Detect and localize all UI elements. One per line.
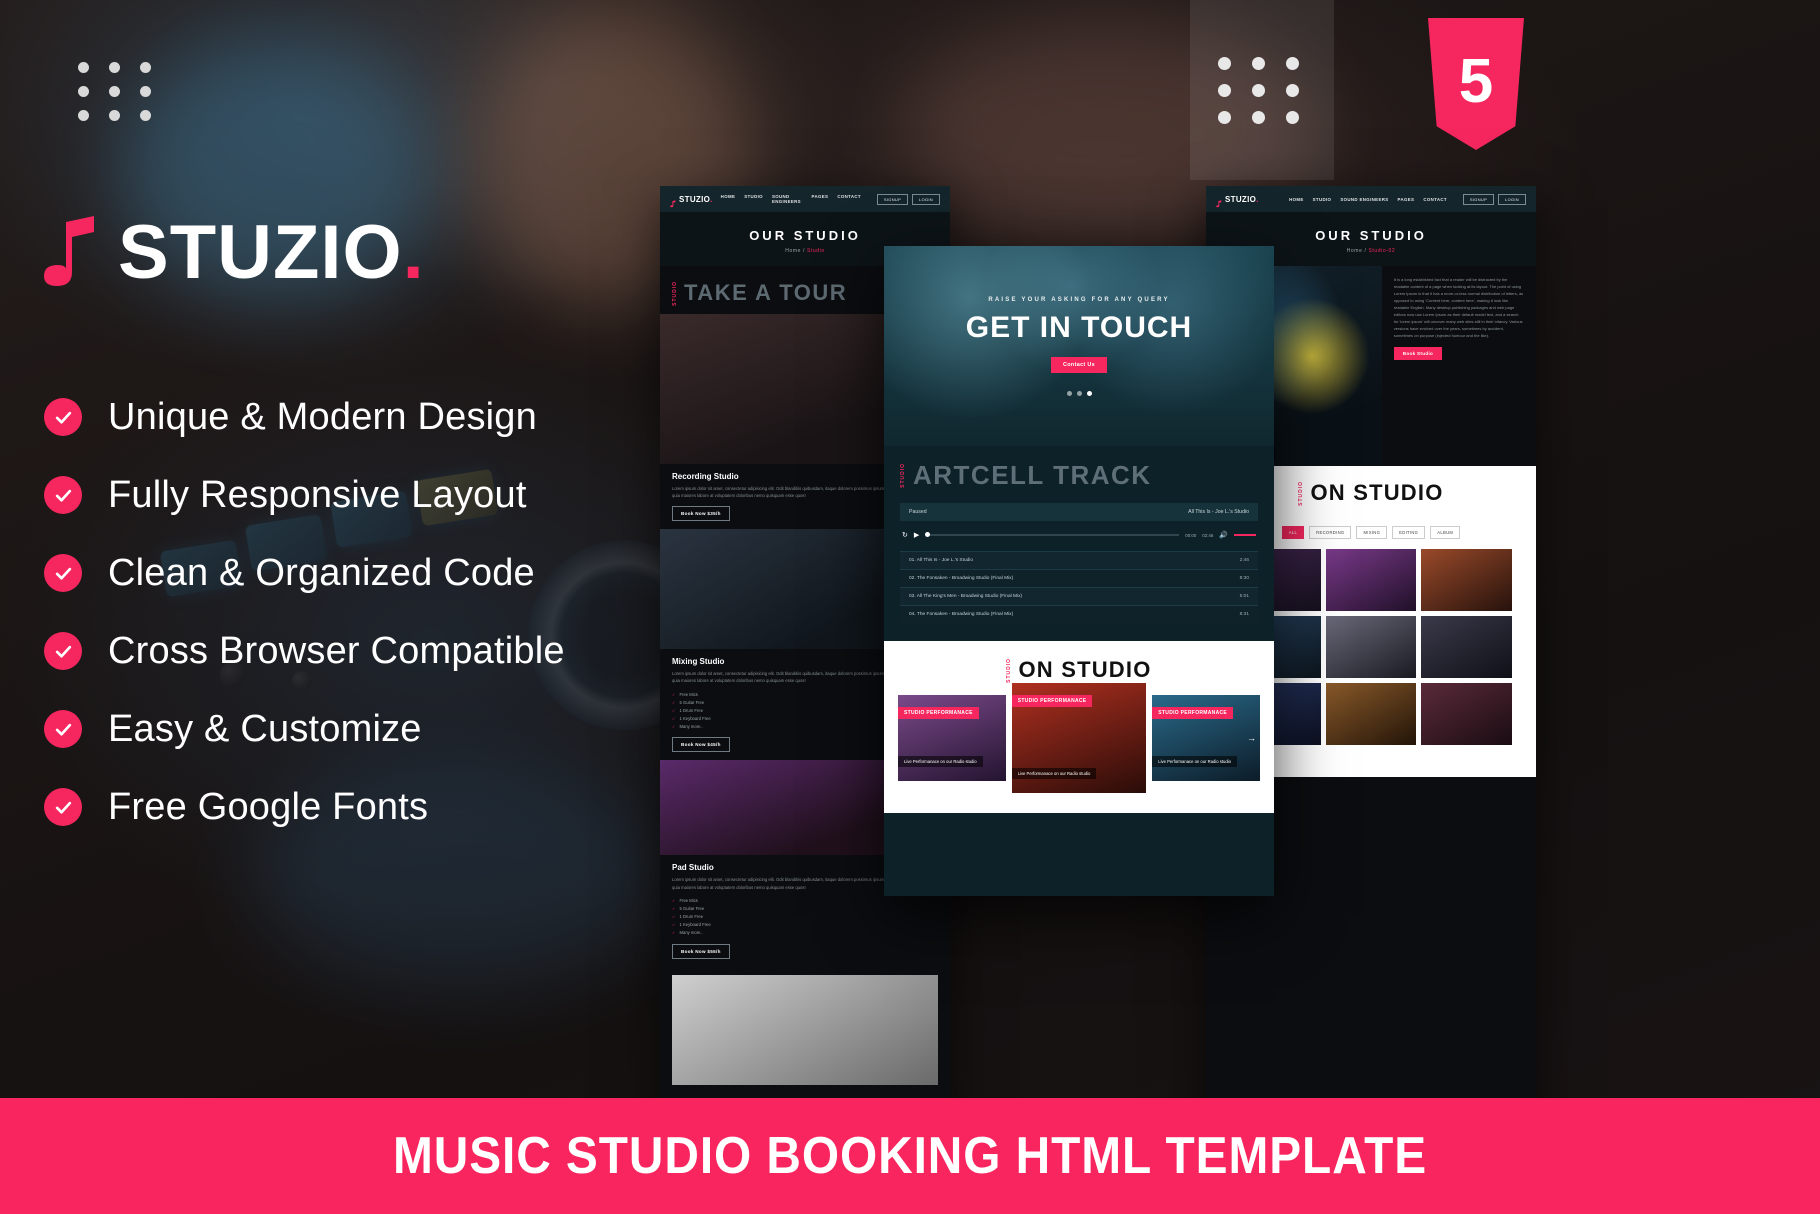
site-nav-links: HOME STUDIO SOUND ENGINEERS PAGES CONTAC… [721,194,861,204]
breadcrumb-current: Studio [807,248,825,254]
nav-link-sound-engineers[interactable]: SOUND ENGINEERS [772,194,803,204]
player-kicker: STUDIO [900,463,906,488]
check-circle-icon [44,788,82,826]
signup-button[interactable]: SIGNUP [1463,194,1494,205]
on-studio-kicker: STUDIO [1006,658,1012,683]
site-nav-buttons: SIGNUP LOGIN [1463,194,1526,205]
feature-label: Easy & Customize [108,708,422,751]
check-circle-icon [44,476,82,514]
studio-photo [672,975,938,1085]
gallery-image[interactable] [1326,616,1417,678]
site-logo[interactable]: STUZIO. [670,195,713,204]
page-title: OUR STUDIO [1206,228,1536,243]
performance-card[interactable]: STUDIO PERFORMANACE Live Performanace on… [898,695,1006,781]
nav-link-pages[interactable]: PAGES [812,194,829,204]
nav-link-home[interactable]: HOME [721,194,736,204]
play-icon[interactable]: ▶ [914,531,919,539]
card-caption: Live Performanace on our Radio studio [1012,768,1097,779]
nav-link-studio[interactable]: STUDIO [744,194,763,204]
gallery-image[interactable] [1421,683,1512,745]
volume-icon[interactable]: 🔊 [1219,531,1228,539]
card-caption: Live Performanace on our Radio studio [1152,756,1237,767]
list-item: 1 Keyboard Free [672,921,938,929]
progress-bar[interactable] [925,534,1179,536]
player-title: ARTCELL TRACK [913,460,1152,491]
filter-recording[interactable]: RECORDING [1309,526,1351,539]
feature-item: Cross Browser Compatible [44,612,565,690]
track-row[interactable]: 01. All This Is - Joe L.'s Studio 2:46 [900,551,1258,569]
site-logo[interactable]: STUZIO. [1216,195,1259,204]
mockup-center-site: RAISE YOUR ASKING FOR ANY QUERY GET IN T… [884,246,1274,896]
music-note-icon [1216,195,1222,203]
contact-hero: RAISE YOUR ASKING FOR ANY QUERY GET IN T… [884,246,1274,446]
site-logo-dot: . [1256,195,1259,204]
gallery-image[interactable] [1421,616,1512,678]
feature-item: Free Google Fonts [44,768,565,846]
site-navbar: STUZIO. HOME STUDIO SOUND ENGINEERS PAGE… [660,186,950,212]
next-arrow-icon[interactable]: → [1247,733,1256,743]
brand-logo-text: STUZIO. [118,217,425,289]
list-item: Many more.. [672,929,938,937]
card-caption: Live Performanace on our Radio studio [898,756,983,767]
track-duration: 5:01 [1240,594,1249,599]
feature-label: Unique & Modern Design [108,396,537,439]
list-item: Free Mics [672,897,938,905]
contact-hero-title: GET IN TOUCH [966,311,1192,345]
site-nav-buttons: SIGNUP LOGIN [877,194,940,205]
breadcrumb-home[interactable]: Home [1347,248,1363,254]
studio-description-text: It is a long established fact that a rea… [1394,276,1524,339]
filter-album[interactable]: ALBUM [1430,526,1460,539]
signup-button[interactable]: SIGNUP [877,194,908,205]
page-title: OUR STUDIO [660,228,950,243]
brand-logo-word: STUZIO [118,210,403,295]
site-nav-links: HOME STUDIO SOUND ENGINEERS PAGES CONTAC… [1289,197,1447,202]
check-circle-icon [44,398,82,436]
nav-link-contact[interactable]: CONTACT [1423,197,1447,202]
gallery-image[interactable] [1326,683,1417,745]
on-studio-title: ON STUDIO [1018,657,1151,683]
bottom-banner: MUSIC STUDIO BOOKING HTML TEMPLATE [0,1098,1820,1214]
music-note-icon [42,216,104,290]
feature-item: Easy & Customize [44,690,565,768]
card-tag: STUDIO PERFORMANACE [1152,707,1233,719]
gallery-image[interactable] [1326,549,1417,611]
brand-logo-dot: . [403,210,425,295]
track-number: 01. [909,558,916,563]
check-circle-icon [44,554,82,592]
performance-card[interactable]: STUDIO PERFORMANACE Live Performanace on… [1152,695,1260,781]
track-row[interactable]: 04. The Fonsaken - Broadwing Studio (Fin… [900,605,1258,623]
html5-badge-label: 5 [1428,46,1524,117]
card-tag: STUDIO PERFORMANACE [1012,695,1093,707]
player-now-playing: All This Is - Joe L.'s Studio [1188,509,1249,515]
player-status: Paused [909,509,927,515]
track-row[interactable]: 03. All The King's Men - Broadwing Studi… [900,587,1258,605]
player-elapsed: 00:00 [1185,533,1196,538]
track-name: The Fonsaken - Broadwing Studio (Final M… [917,576,1013,581]
brand-logo: STUZIO. [42,216,425,290]
book-now-button[interactable]: Book Now $45/h [672,737,730,752]
dots-grid-icon [78,62,158,121]
feature-item: Fully Responsive Layout [44,456,565,534]
slider-dots[interactable] [1067,391,1092,396]
login-button[interactable]: LOGIN [1498,194,1526,205]
replay-icon[interactable]: ↻ [902,531,908,539]
on-studio-section: STUDIO ON STUDIO STUDIO PERFORMANACE Liv… [884,641,1274,813]
player-controls: ↻ ▶ 00:00 02:46 🔊 [900,521,1258,551]
player-status-bar: Paused All This Is - Joe L.'s Studio [900,503,1258,521]
section-title: TAKE A TOUR [684,280,847,306]
player-heading: STUDIO ARTCELL TRACK [900,460,1258,491]
track-name: All The King's Men - Broadwing Studio (F… [917,594,1022,599]
bottom-banner-text: MUSIC STUDIO BOOKING HTML TEMPLATE [393,1126,1427,1186]
site-logo-dot: . [710,195,713,204]
track-row[interactable]: 02. The Fonsaken - Broadwing Studio (Fin… [900,569,1258,587]
gallery-image[interactable] [1421,549,1512,611]
feature-label: Fully Responsive Layout [108,474,527,517]
filter-mixing[interactable]: MIXING [1356,526,1387,539]
book-studio-button[interactable]: Book Studio [1394,347,1442,360]
feature-label: Clean & Organized Code [108,552,535,595]
left-info-panel: STUZIO. Unique & Modern Design Fully Res… [0,0,700,940]
music-note-icon [670,195,676,203]
performance-card-row: STUDIO PERFORMANACE Live Performanace on… [898,695,1260,793]
track-number: 02. [909,576,916,581]
contact-hero-kicker: RAISE YOUR ASKING FOR ANY QUERY [988,297,1169,303]
breadcrumb-separator: / [1364,248,1366,254]
site-navbar: STUZIO. HOME STUDIO SOUND ENGINEERS PAGE… [1206,186,1536,212]
feature-label: Cross Browser Compatible [108,630,565,673]
track-duration: 8:30 [1240,576,1249,581]
section-kicker: STUDIO [672,281,678,306]
site-logo-text: STUZIO [1225,195,1256,204]
track-duration: 2:46 [1240,558,1249,563]
html5-badge: 5 [1428,18,1524,150]
track-duration: 8:31 [1240,612,1249,617]
filter-editing[interactable]: EDITING [1392,526,1425,539]
dots-grid-panel [1190,0,1334,180]
performance-card[interactable]: STUDIO PERFORMANACE Live Performanace on… [1012,683,1147,793]
studio-card-feature-list: Free Mics 5 Guitar Free 1 Drum Free 1 Ke… [672,897,938,937]
feature-item: Clean & Organized Code [44,534,565,612]
music-player-section: STUDIO ARTCELL TRACK Paused All This Is … [884,446,1274,641]
list-item: 1 Drum Free [672,913,938,921]
volume-slider[interactable] [1234,534,1256,536]
gallery-title: ON STUDIO [1310,480,1443,506]
player-duration: 02:46 [1202,533,1213,538]
track-number: 03. [909,594,916,599]
login-button[interactable]: LOGIN [912,194,940,205]
site-logo-text: STUZIO [679,195,710,204]
breadcrumb-home[interactable]: Home [785,248,801,254]
contact-us-button[interactable]: Contact Us [1051,357,1107,373]
nav-link-pages[interactable]: PAGES [1398,197,1415,202]
breadcrumb-separator: / [803,248,805,254]
track-number: 04. [909,612,916,617]
studio-description-column: It is a long established fact that a rea… [1382,266,1536,466]
feature-list: Unique & Modern Design Fully Responsive … [44,378,565,846]
track-name: The Fonsaken - Broadwing Studio (Final M… [917,612,1013,617]
card-tag: STUDIO PERFORMANACE [898,707,979,719]
nav-link-home[interactable]: HOME [1289,197,1304,202]
feature-item: Unique & Modern Design [44,378,565,456]
list-item: 5 Guitar Free [672,905,938,913]
breadcrumb-current: Studio-02 [1368,248,1395,254]
nav-link-sound-engineers[interactable]: SOUND ENGINEERS [1340,197,1388,202]
nav-link-contact[interactable]: CONTACT [837,194,861,204]
check-circle-icon [44,710,82,748]
nav-link-studio[interactable]: STUDIO [1313,197,1332,202]
on-studio-heading: STUDIO ON STUDIO [898,657,1260,683]
feature-label: Free Google Fonts [108,786,428,829]
check-circle-icon [44,632,82,670]
filter-all[interactable]: ALL [1282,526,1304,539]
book-now-button[interactable]: Book Now $35/h [672,506,730,521]
book-now-button[interactable]: Book Now $55/h [672,944,730,959]
track-name: All This Is - Joe L.'s Studio [917,558,973,563]
gallery-kicker: STUDIO [1298,481,1304,506]
